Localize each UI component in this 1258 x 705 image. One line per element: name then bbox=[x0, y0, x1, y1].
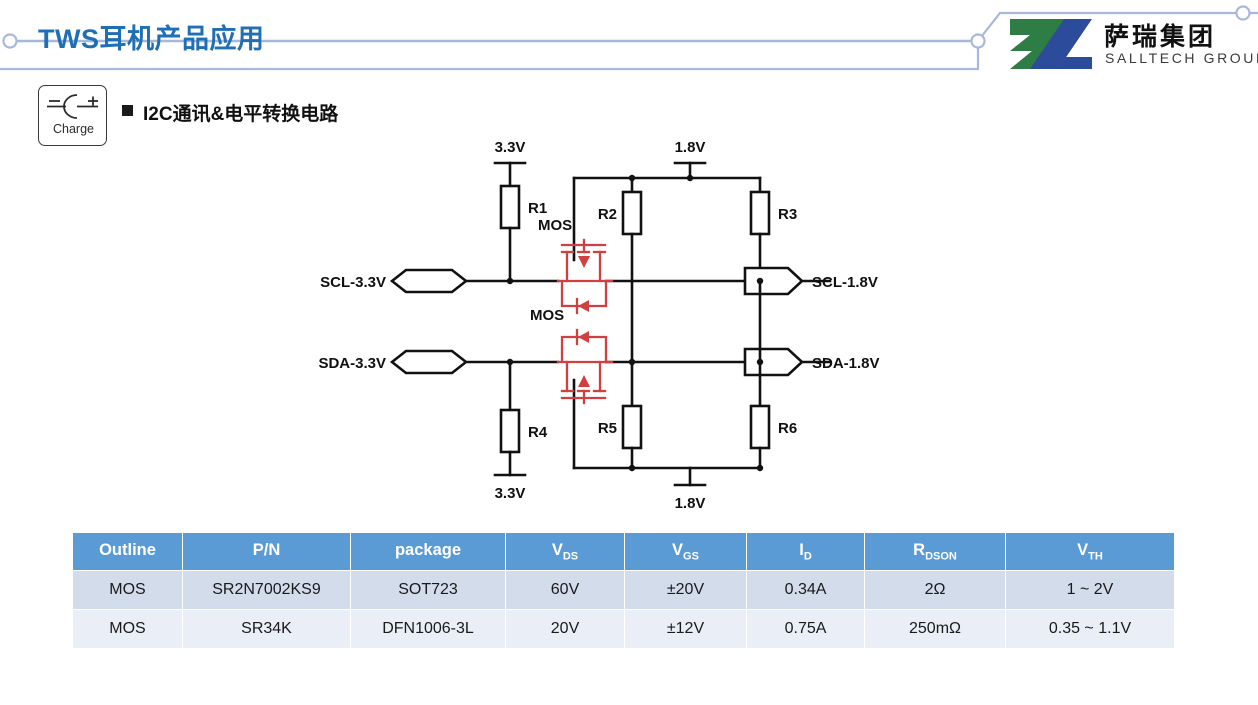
cell-vth: 0.35 ~ 1.1V bbox=[1006, 610, 1175, 649]
battery-charge-icon bbox=[44, 90, 103, 123]
port-label-sda-3v3: SDA-3.3V bbox=[318, 355, 386, 372]
label-supply-top-left: 3.3V bbox=[495, 139, 526, 156]
label-supply-bottom-right: 1.8V bbox=[675, 495, 706, 512]
page-header: TWS耳机产品应用 萨瑞集团 SALLTECH GROUP bbox=[0, 0, 1258, 88]
cell-id: 0.34A bbox=[747, 571, 865, 610]
cell-vds: 60V bbox=[506, 571, 625, 610]
label-r5: R5 bbox=[598, 420, 617, 437]
salltech-logo-mark bbox=[1008, 17, 1094, 71]
brand-name-en: SALLTECH GROUP bbox=[1105, 50, 1258, 66]
col-header-vgs: VGS bbox=[625, 533, 747, 571]
label-r6: R6 bbox=[778, 420, 797, 437]
cell-rdson: 2Ω bbox=[865, 571, 1006, 610]
col-header-vds-sub: DS bbox=[563, 550, 578, 562]
table-row: MOS SR2N7002KS9 SOT723 60V ±20V 0.34A 2Ω… bbox=[73, 571, 1175, 610]
label-r2: R2 bbox=[598, 206, 617, 223]
col-header-outline-main: Outline bbox=[99, 541, 156, 559]
mosfet-symbol-sda bbox=[558, 330, 612, 403]
cell-pn: SR34K bbox=[183, 610, 351, 649]
label-r1: R1 bbox=[528, 200, 547, 217]
label-mos-sda: MOS bbox=[530, 307, 564, 324]
brand-logo: 萨瑞集团 SALLTECH GROUP bbox=[1008, 17, 1246, 71]
col-header-vth: VTH bbox=[1006, 533, 1175, 571]
i2c-level-shifter-schematic: 3.3V 1.8V 3.3V 1.8V SCL-3.3V SDA-3.3V SC… bbox=[290, 130, 910, 520]
col-header-vth-main: V bbox=[1077, 541, 1088, 559]
page-title: TWS耳机产品应用 bbox=[38, 17, 265, 56]
cell-pn: SR2N7002KS9 bbox=[183, 571, 351, 610]
col-header-vth-sub: TH bbox=[1088, 550, 1103, 562]
section-bullet-icon bbox=[122, 105, 133, 116]
cell-vth: 1 ~ 2V bbox=[1006, 571, 1175, 610]
col-header-rdson-main: R bbox=[913, 541, 925, 559]
port-label-scl-1v8: SCL-1.8V bbox=[812, 274, 878, 291]
port-label-sda-1v8: SDA-1.8V bbox=[812, 355, 880, 372]
col-header-vds: VDS bbox=[506, 533, 625, 571]
col-header-package-main: package bbox=[395, 541, 461, 559]
label-r4: R4 bbox=[528, 424, 548, 441]
col-header-id-sub: D bbox=[804, 550, 812, 562]
section-title: I2C通讯&电平转换电路 bbox=[143, 99, 338, 126]
col-header-vgs-sub: GS bbox=[683, 550, 699, 562]
col-header-id: ID bbox=[747, 533, 865, 571]
table-header-row: Outline P/N package VDS VGS ID RDSON VTH bbox=[73, 533, 1175, 571]
cell-vgs: ±20V bbox=[625, 571, 747, 610]
mosfet-symbol-scl bbox=[558, 240, 612, 313]
cell-vds: 20V bbox=[506, 610, 625, 649]
charge-icon-box: Charge bbox=[38, 85, 107, 146]
port-label-scl-3v3: SCL-3.3V bbox=[320, 274, 386, 291]
col-header-vgs-main: V bbox=[672, 541, 683, 559]
charge-icon-label: Charge bbox=[39, 122, 108, 136]
col-header-pn-main: P/N bbox=[253, 541, 281, 559]
slide-page: TWS耳机产品应用 萨瑞集团 SALLTECH GROUP Charge I2C… bbox=[0, 0, 1258, 705]
brand-name-cn: 萨瑞集团 bbox=[1104, 17, 1216, 53]
col-header-outline: Outline bbox=[73, 533, 183, 571]
col-header-rdson: RDSON bbox=[865, 533, 1006, 571]
cell-outline: MOS bbox=[73, 571, 183, 610]
cell-package: SOT723 bbox=[351, 571, 506, 610]
col-header-vds-main: V bbox=[552, 541, 563, 559]
cell-id: 0.75A bbox=[747, 610, 865, 649]
table-row: MOS SR34K DFN1006-3L 20V ±12V 0.75A 250m… bbox=[73, 610, 1175, 649]
mosfet-spec-table: Outline P/N package VDS VGS ID RDSON VTH… bbox=[72, 532, 1175, 649]
label-supply-top-right: 1.8V bbox=[675, 139, 706, 156]
col-header-pn: P/N bbox=[183, 533, 351, 571]
col-header-rdson-sub: DSON bbox=[925, 550, 957, 562]
label-r3: R3 bbox=[778, 206, 797, 223]
label-mos-scl: MOS bbox=[538, 217, 572, 234]
cell-rdson: 250mΩ bbox=[865, 610, 1006, 649]
cell-package: DFN1006-3L bbox=[351, 610, 506, 649]
cell-vgs: ±12V bbox=[625, 610, 747, 649]
col-header-package: package bbox=[351, 533, 506, 571]
cell-outline: MOS bbox=[73, 610, 183, 649]
label-supply-bottom-left: 3.3V bbox=[495, 485, 526, 502]
